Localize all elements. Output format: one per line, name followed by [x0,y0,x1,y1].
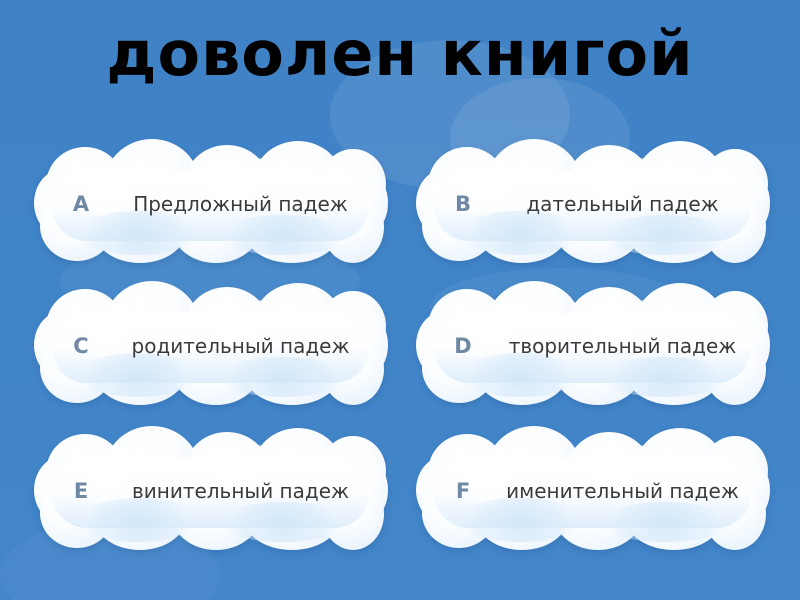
answer-option-c[interactable]: C родительный падеж [38,287,383,405]
answer-card-content: D творительный падеж [420,287,765,405]
option-letter: F [420,479,506,503]
option-text: винительный падеж [124,479,383,503]
answer-card-content: A Предложный падеж [38,145,383,263]
option-letter: A [38,192,124,216]
answer-option-d[interactable]: D творительный падеж [420,287,765,405]
answer-option-f[interactable]: F именительный падеж [420,432,765,550]
option-letter: B [420,192,506,216]
quiz-screen: доволен книгой A Предложный падеж [0,0,800,600]
answer-option-e[interactable]: E винительный падеж [38,432,383,550]
answer-option-a[interactable]: A Предложный падеж [38,145,383,263]
option-text: творительный падеж [506,334,765,358]
option-text: родительный падеж [124,334,383,358]
answer-options-grid: A Предложный падеж B дательный падеж [0,140,800,560]
answer-card-content: B дательный падеж [420,145,765,263]
answer-card-content: C родительный падеж [38,287,383,405]
option-letter: C [38,334,124,358]
option-text: Предложный падеж [124,192,383,216]
page-title: доволен книгой [106,22,693,85]
answer-option-b[interactable]: B дательный падеж [420,145,765,263]
option-letter: D [420,334,506,358]
option-letter: E [38,479,124,503]
option-text: дательный падеж [506,192,765,216]
option-text: именительный падеж [506,479,765,503]
title-bar: доволен книгой [0,22,800,85]
answer-card-content: E винительный падеж [38,432,383,550]
answer-card-content: F именительный падеж [420,432,765,550]
